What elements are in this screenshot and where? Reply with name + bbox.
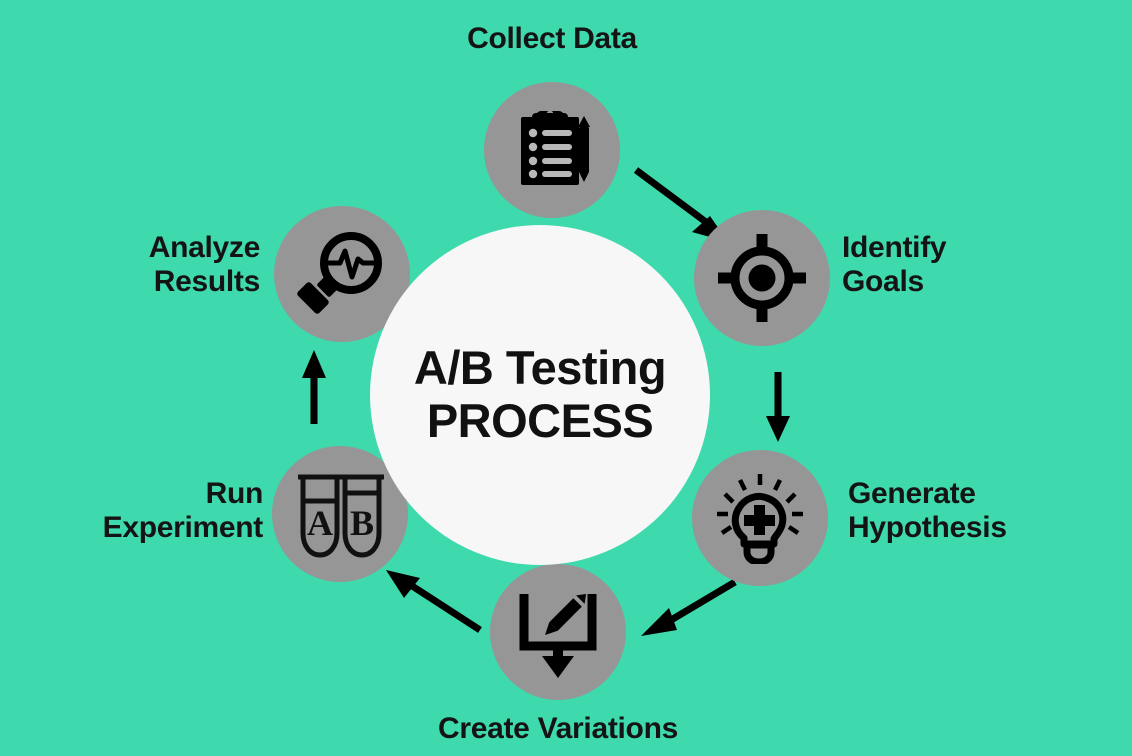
clipboard-checklist-pencil-icon — [510, 108, 594, 192]
arrow-identify-to-hypothesis — [765, 372, 791, 444]
arrow-hypothesis-to-variations — [635, 578, 739, 640]
infographic-canvas: Collect Data Identify Goals — [0, 0, 1132, 756]
label-identify-goals: Identify Goals — [842, 231, 1052, 298]
label-run-experiment: Run Experiment — [48, 477, 263, 544]
lightbulb-plus-icon — [714, 472, 806, 564]
node-identify-goals[interactable] — [694, 210, 830, 346]
label-generate-hypothesis: Generate Hypothesis — [848, 477, 1118, 544]
tube-label-b: B — [350, 503, 374, 543]
hub-title-line2: PROCESS — [427, 395, 653, 448]
arrow-variations-to-experiment — [382, 566, 486, 634]
node-collect-data[interactable] — [484, 82, 620, 218]
hub-title-line1: A/B Testing — [414, 342, 666, 395]
magnifier-pulse-icon — [297, 229, 387, 319]
target-crosshair-icon — [718, 234, 806, 322]
label-create-variations: Create Variations — [408, 712, 708, 746]
arrow-experiment-to-analyze — [301, 348, 327, 424]
tube-label-a: A — [307, 503, 333, 543]
test-tubes-ab-icon: A B — [293, 467, 387, 561]
hub-center: A/B Testing PROCESS — [370, 225, 710, 565]
node-create-variations[interactable] — [490, 564, 626, 700]
pencil-tray-download-icon — [512, 586, 604, 678]
node-generate-hypothesis[interactable] — [692, 450, 828, 586]
label-collect-data: Collect Data — [402, 22, 702, 56]
label-analyze-results: Analyze Results — [60, 231, 260, 298]
